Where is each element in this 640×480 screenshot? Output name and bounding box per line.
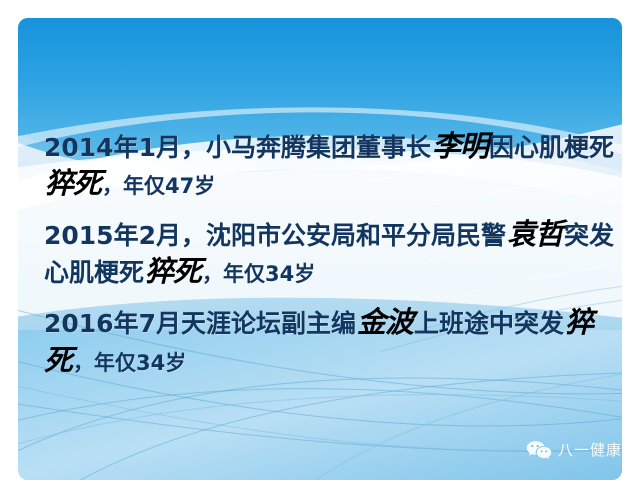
statement-text: 上班途中突发 — [414, 309, 564, 338]
victim-age: ，年仅34岁 — [202, 262, 315, 286]
victim-name: 金波 — [356, 305, 414, 339]
watermark: 八一健康 — [526, 439, 622, 460]
statement-item: 2014年1月，小马奔腾集团董事长李明因心肌梗死猝死，年仅47岁 — [44, 128, 614, 202]
victim-age: ，年仅47岁 — [102, 174, 215, 198]
statement-item: 2016年7月天涯论坛副主编金波上班途中突发猝死，年仅34岁 — [44, 304, 614, 378]
statement-text: 2016年7月天涯论坛副主编 — [44, 309, 356, 338]
watermark-label: 八一健康 — [558, 439, 622, 460]
wechat-icon — [526, 440, 552, 460]
victim-name: 李明 — [431, 129, 489, 163]
cause-of-death: 猝死 — [44, 166, 102, 200]
statement-text: 2015年2月，沈阳市公安局和平分局民警 — [44, 221, 506, 250]
statement-text: 因心肌梗死 — [489, 133, 614, 162]
victim-name: 袁哲 — [506, 217, 564, 251]
slide-canvas: 2014年1月，小马奔腾集团董事长李明因心肌梗死猝死，年仅47岁 2015年2月… — [0, 0, 640, 480]
victim-age: ，年仅34岁 — [73, 351, 186, 375]
statement-text: 2014年1月，小马奔腾集团董事长 — [44, 133, 431, 162]
statement-list: 2014年1月，小马奔腾集团董事长李明因心肌梗死猝死，年仅47岁 2015年2月… — [44, 128, 614, 379]
statement-item: 2015年2月，沈阳市公安局和平分局民警袁哲突发心肌梗死猝死，年仅34岁 — [44, 216, 614, 290]
cause-of-death: 猝死 — [144, 254, 202, 288]
